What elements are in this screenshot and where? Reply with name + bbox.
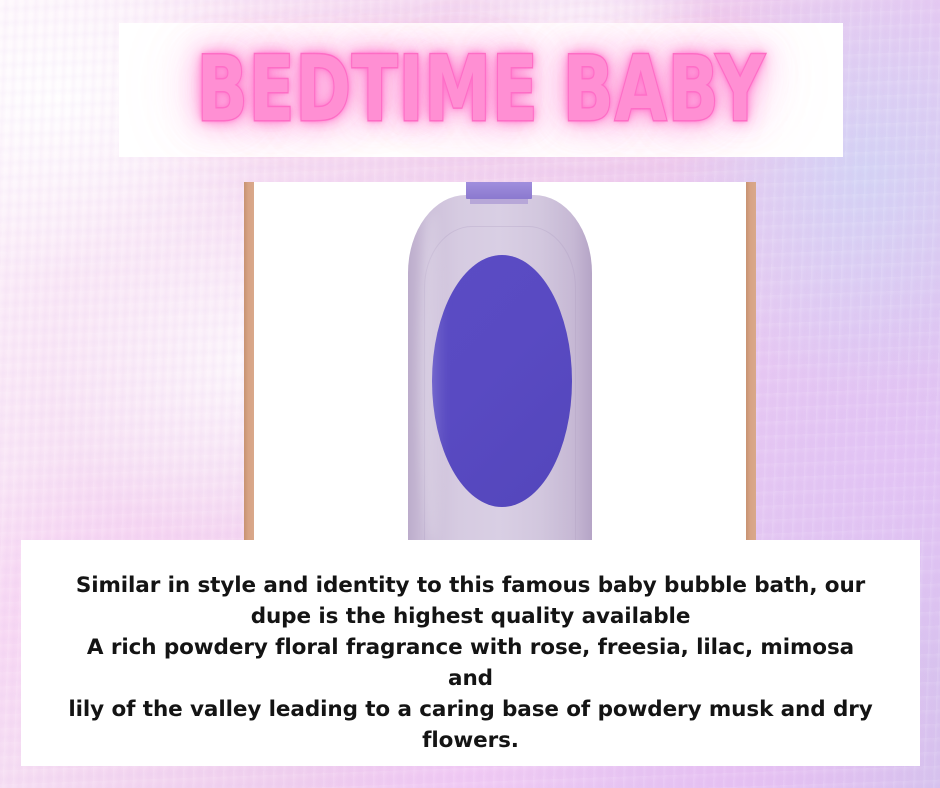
description-line: lily of the valley leading to a caring b… [65,695,876,726]
description-line: A rich powdery floral fragrance with ros… [65,633,876,695]
description-text: Similar in style and identity to this fa… [65,571,876,757]
description-line: dupe is the highest quality available [65,602,876,633]
description-line: Similar in style and identity to this fa… [65,571,876,602]
bottle-cap [466,182,532,199]
product-bottle-image [244,182,756,560]
poster-canvas: BEDTIME BABY Similar in style and identi… [0,0,940,788]
description-line: flowers. [65,726,876,757]
bottle-highlight [420,212,446,542]
page-title: BEDTIME BABY [170,12,793,167]
bottle-label-oval [432,255,572,507]
description-panel: Similar in style and identity to this fa… [21,540,920,766]
